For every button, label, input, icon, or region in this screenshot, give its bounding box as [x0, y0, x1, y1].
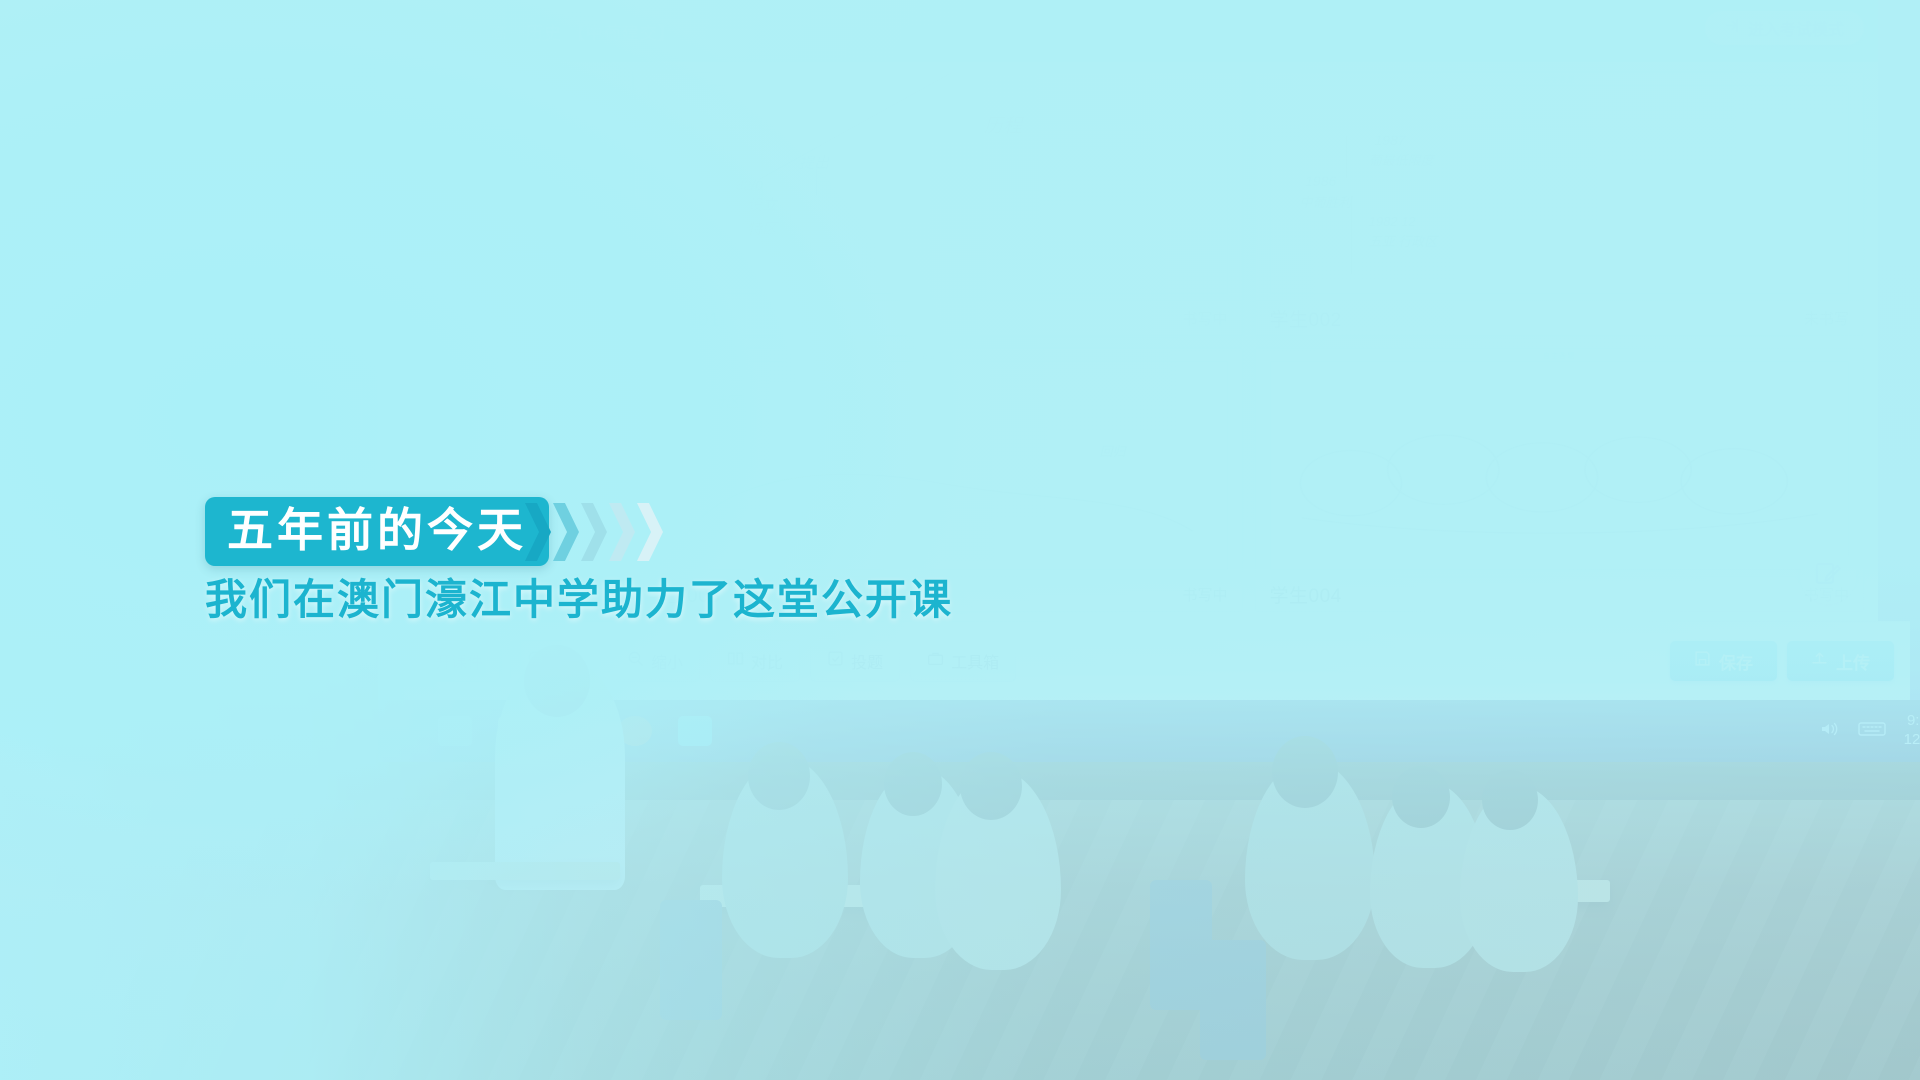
pen-icon[interactable]	[585, 251, 600, 266]
screenshot-stage: 课堂互动 · 高一历史 【中葡建交】 进入考试模式 题目列表 ︿ ﹀	[0, 0, 1920, 1080]
ink-text: 特区	[747, 218, 777, 239]
promo-badge: 五年前的今天	[205, 497, 549, 566]
question-label: 第1题	[400, 128, 441, 152]
chair	[660, 900, 722, 1020]
ink-stroke	[758, 72, 971, 180]
ink-text: 1982 12	[1369, 214, 1416, 229]
upload-icon	[1811, 650, 1828, 672]
question-label: 第4题	[400, 305, 441, 329]
upload-label: 上传	[1836, 649, 1870, 674]
toolbar-button-toolbox[interactable]: 工具箱	[910, 640, 1016, 682]
student-card[interactable]: 自主答题 历程 提出 82/0 设立 特区 学生001 书写中	[633, 72, 1243, 336]
toolbar-button-compare[interactable]: 对比	[710, 640, 800, 682]
system-tray: 9:33 AM 12/18/20	[1818, 700, 1920, 762]
ink-text: 1987	[1374, 132, 1405, 148]
ink-text: 提出	[799, 152, 829, 173]
ink-text: 五亚 行政区	[1369, 231, 1438, 250]
student-name: 学生001	[648, 305, 720, 332]
student-card-footer: 学生004 书写中	[1256, 576, 1864, 611]
student-card[interactable]: 自主答题 学生004 书写中	[1255, 348, 1865, 612]
desk	[430, 862, 620, 880]
student-card-footer: 学生001 书写中	[634, 300, 1242, 335]
ink-text: 设特区	[695, 391, 740, 412]
projector-icon	[827, 650, 844, 672]
question-list-item[interactable]: 第4题	[378, 288, 618, 347]
toolbar-label: 投题	[851, 649, 883, 673]
question-list-title: 题目列表	[378, 72, 618, 111]
canvas-header-label: 自主答题	[1543, 351, 1575, 361]
app-topbar: 课堂互动 · 高一历史 【中葡建交】 进入考试模式	[378, 0, 1878, 62]
left-wall	[0, 0, 380, 742]
handwriting-canvas[interactable]: 自主答题 历程 提出 82/0 设立 特区	[648, 85, 1228, 294]
pen-icon[interactable]	[585, 310, 600, 325]
chevron-right-icon	[525, 503, 551, 561]
person-head	[524, 645, 590, 717]
toolbar-button-open-courseware[interactable]: 开课件	[394, 640, 500, 682]
person-head	[1392, 766, 1450, 828]
toolbar-label: 工具箱	[951, 649, 999, 673]
ink-drawing	[1294, 414, 1825, 549]
zoom-out-icon	[627, 650, 644, 672]
toolbar-button-project-question[interactable]: 投题	[810, 640, 900, 682]
ink-stroke	[1346, 136, 1347, 178]
chevron-right-icon	[637, 503, 663, 561]
ink-text: 历程	[984, 111, 1022, 138]
compare-icon	[727, 650, 744, 672]
question-list-scrollbar[interactable]	[610, 104, 616, 404]
toolbar-label: 对比	[751, 649, 783, 673]
pen-icon[interactable]	[585, 428, 600, 443]
toolbar-button-zoom-out[interactable]: 缩小	[610, 640, 700, 682]
edit-note-fab-button[interactable]	[1800, 548, 1856, 604]
student-name: 学生002	[1270, 305, 1342, 332]
arrow-enter-icon	[1725, 18, 1740, 38]
question-list-item[interactable]: 第1题	[378, 111, 618, 170]
question-label: 第2题	[400, 187, 441, 211]
toolbar-label: 开课件	[435, 649, 483, 673]
question-list-item[interactable]: 第2题	[378, 170, 618, 229]
canvas-header-label: 自主答题	[922, 351, 954, 361]
clock-time: 9:33 AM	[1904, 712, 1920, 731]
wps-writer-icon[interactable]	[678, 716, 712, 746]
handwriting-canvas[interactable]: 自主答题 1987 葡最低限度 1986 中葡胜利 1982 12 五亚 行政区	[1270, 85, 1850, 294]
taskbar-clock[interactable]: 9:33 AM 12/18/20	[1904, 712, 1920, 750]
ink-text: 中葡胜利	[1299, 192, 1351, 211]
speaker-icon[interactable]	[1818, 719, 1840, 744]
keyboard-icon[interactable]	[1858, 719, 1886, 744]
student-card[interactable]: 自主答题 1987 葡最低限度 1986 中葡胜利 1982 12 五亚 行政区…	[1255, 72, 1865, 336]
person-head	[884, 752, 942, 816]
folder-icon[interactable]	[438, 716, 472, 746]
question-list-item[interactable]: 第5题	[378, 347, 618, 406]
person-head	[748, 742, 810, 810]
ink-stroke	[1351, 196, 1352, 274]
clock-date: 12/18/20	[1904, 731, 1920, 750]
promo-overlay: 五年前的今天 我们在澳门濠江中学助力了这堂公开课	[205, 497, 953, 621]
question-list-item[interactable]: 第3题	[378, 229, 618, 288]
status-badge: 书写中	[1182, 308, 1227, 329]
status-badge: 未书写	[1804, 308, 1849, 329]
enter-exam-mode-label: 进入考试模式	[1748, 16, 1844, 40]
pen-icon[interactable]	[585, 369, 600, 384]
ink-text: 82/0	[736, 177, 763, 193]
promo-subtitle: 我们在澳门濠江中学助力了这堂公开课	[205, 579, 953, 621]
person-head	[1272, 736, 1338, 808]
ink-text: 1986	[1305, 173, 1336, 189]
person-head	[1482, 770, 1538, 830]
question-label: 第5题	[400, 364, 441, 388]
question-label: 第3题	[400, 246, 441, 270]
canvas-header-label: 自主答题	[1543, 75, 1575, 85]
ink-text: 葡最低限度	[1369, 150, 1434, 169]
save-label: 保存	[1719, 649, 1753, 674]
toolbar-label: 缩小	[651, 649, 683, 673]
chevron-arrows	[525, 503, 663, 561]
save-button[interactable]: 保存	[1670, 641, 1777, 681]
chair	[1200, 940, 1266, 1060]
student-card-footer: 学生002 未书写	[1256, 300, 1864, 335]
chevron-right-icon	[609, 503, 635, 561]
chevron-right-icon	[581, 503, 607, 561]
document-icon	[411, 650, 428, 672]
handwriting-canvas[interactable]: 自主答题	[1270, 361, 1850, 570]
pen-icon[interactable]	[585, 133, 600, 148]
enter-exam-mode-button[interactable]: 进入考试模式	[1705, 11, 1864, 45]
question-list-item[interactable]: 第6题	[378, 406, 618, 465]
question-label: 第6题	[400, 423, 441, 447]
status-badge: 书写中	[1182, 584, 1227, 605]
ink-text: 设立	[747, 194, 777, 215]
save-icon	[1694, 650, 1711, 672]
upload-button[interactable]: 上传	[1787, 641, 1894, 681]
ink-stroke	[816, 169, 817, 195]
chevron-right-icon	[553, 503, 579, 561]
student-name: 学生004	[1270, 581, 1342, 608]
person-head	[960, 752, 1022, 820]
toolbox-icon	[927, 650, 944, 672]
breadcrumb: 课堂互动 · 高一历史 【中葡建交】	[400, 19, 676, 44]
pen-icon[interactable]	[585, 192, 600, 207]
edit-note-icon	[1813, 559, 1843, 594]
